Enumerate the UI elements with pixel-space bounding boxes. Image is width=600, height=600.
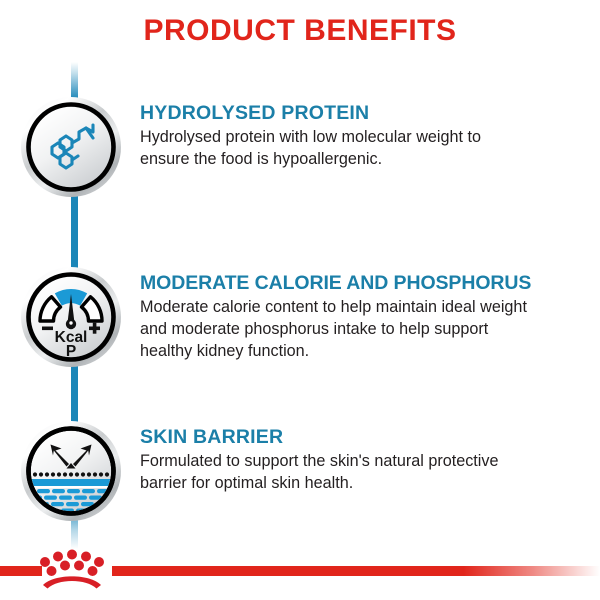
benefit-body: Formulated to support the skin's natural… (140, 451, 588, 494)
gauge-minus-sign (42, 327, 53, 331)
benefit-heading: SKIN BARRIER (140, 426, 588, 448)
skin-barrier-icon (20, 420, 122, 522)
royal-canin-crown-logo (34, 546, 110, 590)
benefit-heading: HYDROLYSED PROTEIN (140, 102, 588, 124)
benefit-text-column: MODERATE CALORIE AND PHOSPHORUS Moderate… (140, 272, 588, 362)
benefit-heading: MODERATE CALORIE AND PHOSPHORUS (140, 272, 588, 294)
molecule-hexagon-icon (20, 96, 122, 198)
page-title: PRODUCT BENEFITS (0, 14, 600, 48)
benefit-text-column: HYDROLYSED PROTEIN Hydrolysed protein wi… (140, 102, 588, 171)
gauge-label-p: P (66, 343, 76, 360)
benefit-text-column: SKIN BARRIER Formulated to support the s… (140, 426, 588, 495)
calorie-gauge-icon: Kcal P (20, 266, 122, 368)
benefit-body: Moderate calorie content to help maintai… (140, 297, 588, 362)
benefit-body: Hydrolysed protein with low molecular we… (140, 127, 588, 170)
footer-rule-right (112, 566, 600, 576)
